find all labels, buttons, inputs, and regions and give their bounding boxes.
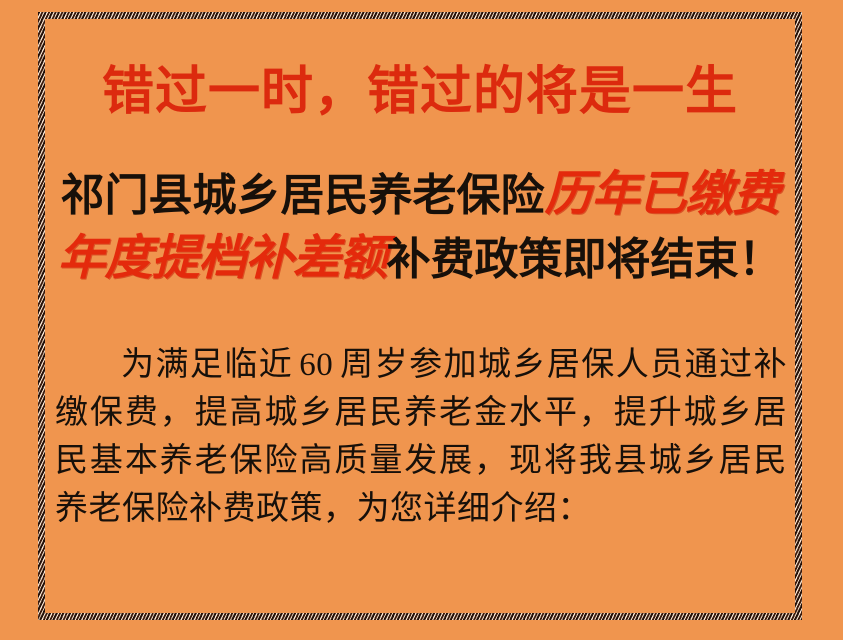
subheadline-black-suffix: 补费政策即将结束！ <box>387 235 783 284</box>
subheadline-black-prefix: 祁门县城乡居民养老保险 <box>60 171 544 220</box>
poster-content: 错过一时，错过的将是一生 祁门县城乡居民养老保险历年已缴费年度提档补差额补费政策… <box>45 19 795 613</box>
poster-canvas: 错过一时，错过的将是一生 祁门县城乡居民养老保险历年已缴费年度提档补差额补费政策… <box>0 0 843 640</box>
headline-slogan: 错过一时，错过的将是一生 <box>45 63 795 121</box>
body-age-number: 60 <box>293 347 339 383</box>
body-paragraph: 为满足临近60周岁参加城乡居保人员通过补缴保费，提高城乡居民养老金水平，提升城乡… <box>55 341 787 533</box>
body-part-one: 为满足临近 <box>121 347 293 383</box>
subheadline: 祁门县城乡居民养老保险历年已缴费年度提档补差额补费政策即将结束！ <box>51 163 789 291</box>
